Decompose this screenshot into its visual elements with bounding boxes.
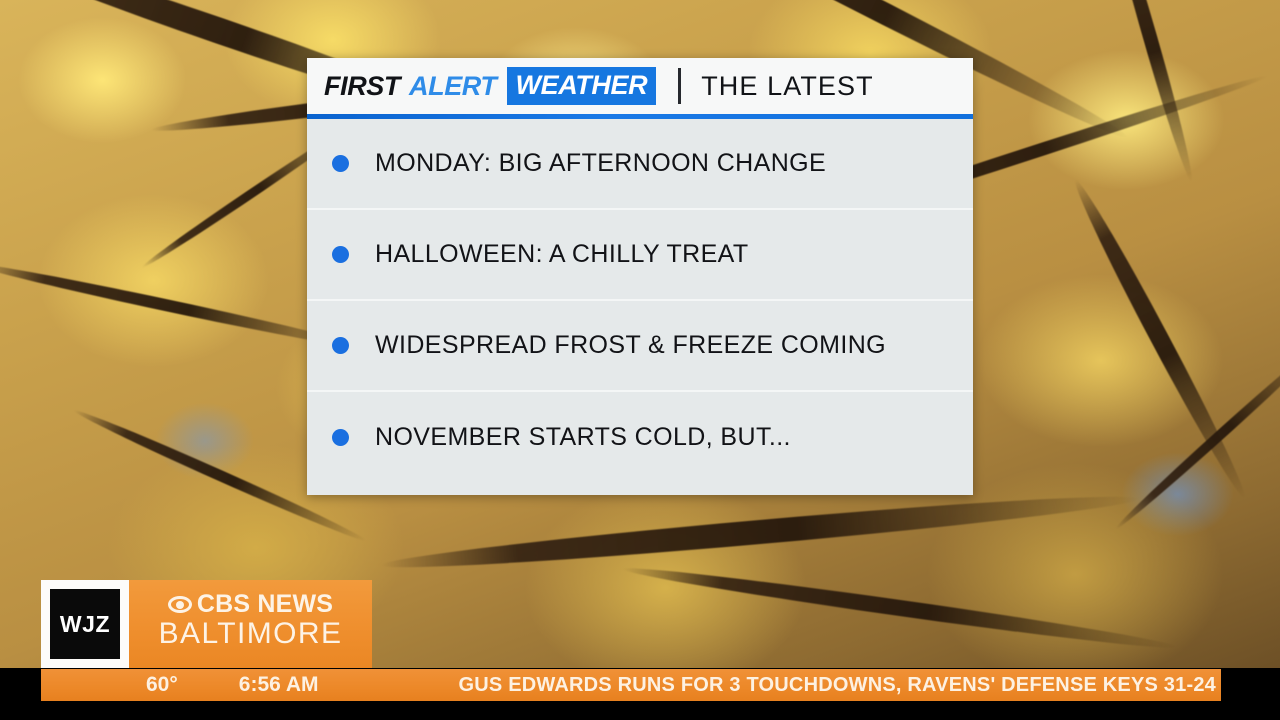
tree-branch bbox=[1068, 176, 1253, 502]
tree-branch bbox=[622, 561, 1179, 655]
list-item-label: WIDESPREAD FROST & FREEZE COMING bbox=[375, 331, 886, 360]
section-title: THE LATEST bbox=[701, 71, 874, 102]
callsign-label: WJZ bbox=[60, 611, 110, 638]
market-label: BALTIMORE bbox=[159, 618, 343, 650]
list-item-label: MONDAY: BIG AFTERNOON CHANGE bbox=[375, 149, 826, 178]
broadcast-screen: FIRST ALERT WEATHER THE LATEST MONDAY: B… bbox=[0, 0, 1280, 720]
station-logo-bug: WJZ CBS NEWS BALTIMORE bbox=[41, 580, 372, 668]
first-alert-weather-logo: FIRST ALERT WEATHER bbox=[324, 67, 656, 105]
network-label: CBS NEWS bbox=[197, 592, 333, 617]
bullet-dot-icon bbox=[332, 429, 349, 446]
callsign-frame: WJZ bbox=[41, 580, 129, 668]
tree-branch bbox=[1102, 0, 1198, 183]
forecast-headline-list: MONDAY: BIG AFTERNOON CHANGE HALLOWEEN: … bbox=[307, 119, 973, 483]
cbs-news-row: CBS NEWS bbox=[168, 592, 333, 617]
cbs-news-block: CBS NEWS BALTIMORE bbox=[129, 580, 372, 668]
tree-branch bbox=[1113, 338, 1280, 533]
brand-weather-text: WEATHER bbox=[507, 67, 657, 105]
bullet-dot-icon bbox=[332, 337, 349, 354]
list-item: NOVEMBER STARTS COLD, BUT... bbox=[307, 392, 973, 483]
callsign-box: WJZ bbox=[50, 589, 120, 659]
panel-header: FIRST ALERT WEATHER THE LATEST bbox=[307, 58, 973, 114]
ticker-temperature: 60° bbox=[146, 673, 178, 697]
cbs-eye-icon bbox=[168, 596, 192, 613]
list-item-label: HALLOWEEN: A CHILLY TREAT bbox=[375, 240, 749, 269]
list-item: WIDESPREAD FROST & FREEZE COMING bbox=[307, 301, 973, 392]
ticker-clock: 6:56 AM bbox=[239, 673, 319, 697]
header-divider bbox=[678, 68, 681, 104]
list-item: HALLOWEEN: A CHILLY TREAT bbox=[307, 210, 973, 301]
list-item-label: NOVEMBER STARTS COLD, BUT... bbox=[375, 423, 791, 452]
tree-branch bbox=[380, 487, 1139, 577]
ticker-headline: GUS EDWARDS RUNS FOR 3 TOUCHDOWNS, RAVEN… bbox=[459, 674, 1221, 697]
bullet-dot-icon bbox=[332, 246, 349, 263]
bullet-dot-icon bbox=[332, 155, 349, 172]
news-ticker-bar: 60° 6:56 AM GUS EDWARDS RUNS FOR 3 TOUCH… bbox=[41, 669, 1221, 701]
cbs-eye-pupil bbox=[176, 601, 184, 609]
brand-alert-text: ALERT bbox=[409, 73, 497, 100]
letterbox-bottom bbox=[0, 701, 1280, 720]
list-item: MONDAY: BIG AFTERNOON CHANGE bbox=[307, 119, 973, 210]
brand-first-text: FIRST bbox=[324, 73, 400, 100]
first-alert-weather-panel: FIRST ALERT WEATHER THE LATEST MONDAY: B… bbox=[307, 58, 973, 495]
